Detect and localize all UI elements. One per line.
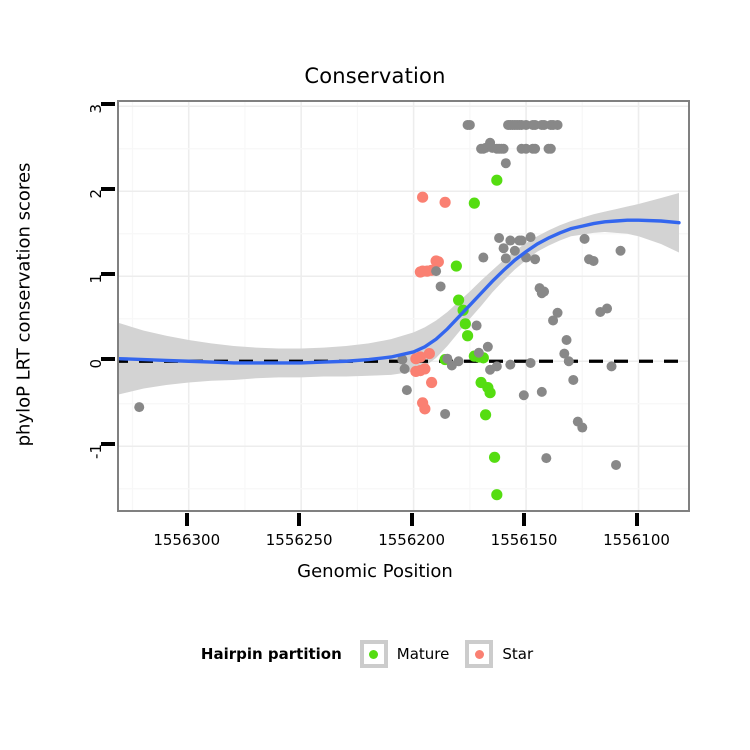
- data-point-other: [611, 460, 621, 470]
- x-axis-tick: [522, 513, 526, 526]
- data-point-other: [483, 342, 493, 352]
- x-axis-tick: [185, 513, 189, 526]
- data-point-other: [402, 385, 412, 395]
- legend-key-swatch: [360, 640, 388, 668]
- data-point-other: [494, 233, 504, 243]
- data-point-other: [499, 243, 509, 253]
- data-point-other: [472, 321, 482, 331]
- legend-title: Hairpin partition: [201, 645, 342, 663]
- x-axis-tick: [635, 513, 639, 526]
- data-point-star: [415, 266, 426, 277]
- data-point-other: [562, 335, 572, 345]
- data-point-other: [526, 232, 536, 242]
- legend-item-label: Star: [502, 645, 533, 663]
- data-point-star: [440, 197, 451, 208]
- data-point-other: [568, 375, 578, 385]
- grid-lines: [119, 102, 688, 510]
- data-point-other: [465, 120, 475, 130]
- data-point-other: [492, 361, 502, 371]
- data-point-other: [478, 253, 488, 263]
- data-point-other: [602, 304, 612, 314]
- x-axis-tick-label: 1556150: [464, 531, 584, 549]
- data-point-other: [539, 287, 549, 297]
- data-point-other: [564, 356, 574, 366]
- data-point-other: [616, 246, 626, 256]
- y-axis-tick-label: 3: [87, 104, 105, 144]
- data-point-mature: [491, 489, 502, 500]
- data-point-mature: [453, 294, 464, 305]
- legend-item-label: Mature: [397, 645, 450, 663]
- data-point-star: [410, 366, 421, 377]
- data-point-other: [134, 402, 144, 412]
- data-point-other: [400, 364, 410, 374]
- data-point-other: [499, 144, 509, 154]
- x-axis-tick-label: 1556250: [239, 531, 359, 549]
- chart-legend: Hairpin partition MatureStar: [0, 640, 750, 668]
- x-axis-title: Genomic Position: [0, 561, 750, 582]
- data-point-mature: [484, 387, 495, 398]
- data-point-other: [454, 356, 464, 366]
- data-point-other: [501, 158, 511, 168]
- data-point-mature: [451, 260, 462, 271]
- data-points: [134, 120, 625, 500]
- data-point-other: [530, 254, 540, 264]
- data-point-other: [474, 348, 484, 358]
- x-axis-tick-label: 1556300: [127, 531, 247, 549]
- data-point-other: [530, 144, 540, 154]
- legend-key-swatch: [465, 640, 493, 668]
- data-point-star: [417, 192, 428, 203]
- y-axis-tick-label: 0: [87, 359, 105, 399]
- data-point-mature: [469, 198, 480, 209]
- data-point-other: [436, 281, 446, 291]
- data-point-other: [553, 120, 563, 130]
- data-point-mature: [480, 409, 491, 420]
- data-point-star: [419, 403, 430, 414]
- data-point-other: [541, 453, 551, 463]
- data-point-star: [410, 353, 421, 364]
- data-point-other: [546, 144, 556, 154]
- y-axis-tick-label: 2: [87, 189, 105, 229]
- data-point-mature: [491, 175, 502, 186]
- legend-dot-icon: [369, 650, 378, 659]
- data-point-other: [519, 390, 529, 400]
- plot-panel: [117, 100, 690, 512]
- data-point-other: [505, 360, 515, 370]
- data-point-other: [607, 361, 617, 371]
- data-point-mature: [489, 452, 500, 463]
- data-point-other: [510, 246, 520, 256]
- x-axis-tick: [297, 513, 301, 526]
- data-point-other: [577, 423, 587, 433]
- data-point-other: [537, 387, 547, 397]
- data-point-other: [517, 236, 527, 246]
- legend-dot-icon: [475, 650, 484, 659]
- chart-root: Conservation phyloP LRT conservation sco…: [0, 0, 750, 750]
- data-point-other: [553, 308, 563, 318]
- data-point-other: [505, 236, 515, 246]
- data-point-other: [431, 266, 441, 276]
- x-axis-tick-label: 1556200: [352, 531, 472, 549]
- data-point-other: [526, 358, 536, 368]
- y-axis-tick-label: -1: [87, 444, 105, 484]
- data-point-mature: [460, 318, 471, 329]
- data-point-other: [440, 409, 450, 419]
- data-point-other: [501, 253, 511, 263]
- y-axis-title: phyloP LRT conservation scores: [14, 155, 35, 455]
- data-point-star: [426, 377, 437, 388]
- chart-title: Conservation: [0, 64, 750, 88]
- data-point-other: [589, 256, 599, 266]
- plot-area: [119, 102, 688, 510]
- data-point-mature: [462, 330, 473, 341]
- legend-item-star[interactable]: Star: [465, 640, 533, 668]
- data-point-other: [580, 234, 590, 244]
- y-axis-tick-label: 1: [87, 274, 105, 314]
- x-axis-tick-label: 1556100: [577, 531, 697, 549]
- x-axis-tick: [410, 513, 414, 526]
- legend-item-mature[interactable]: Mature: [360, 640, 450, 668]
